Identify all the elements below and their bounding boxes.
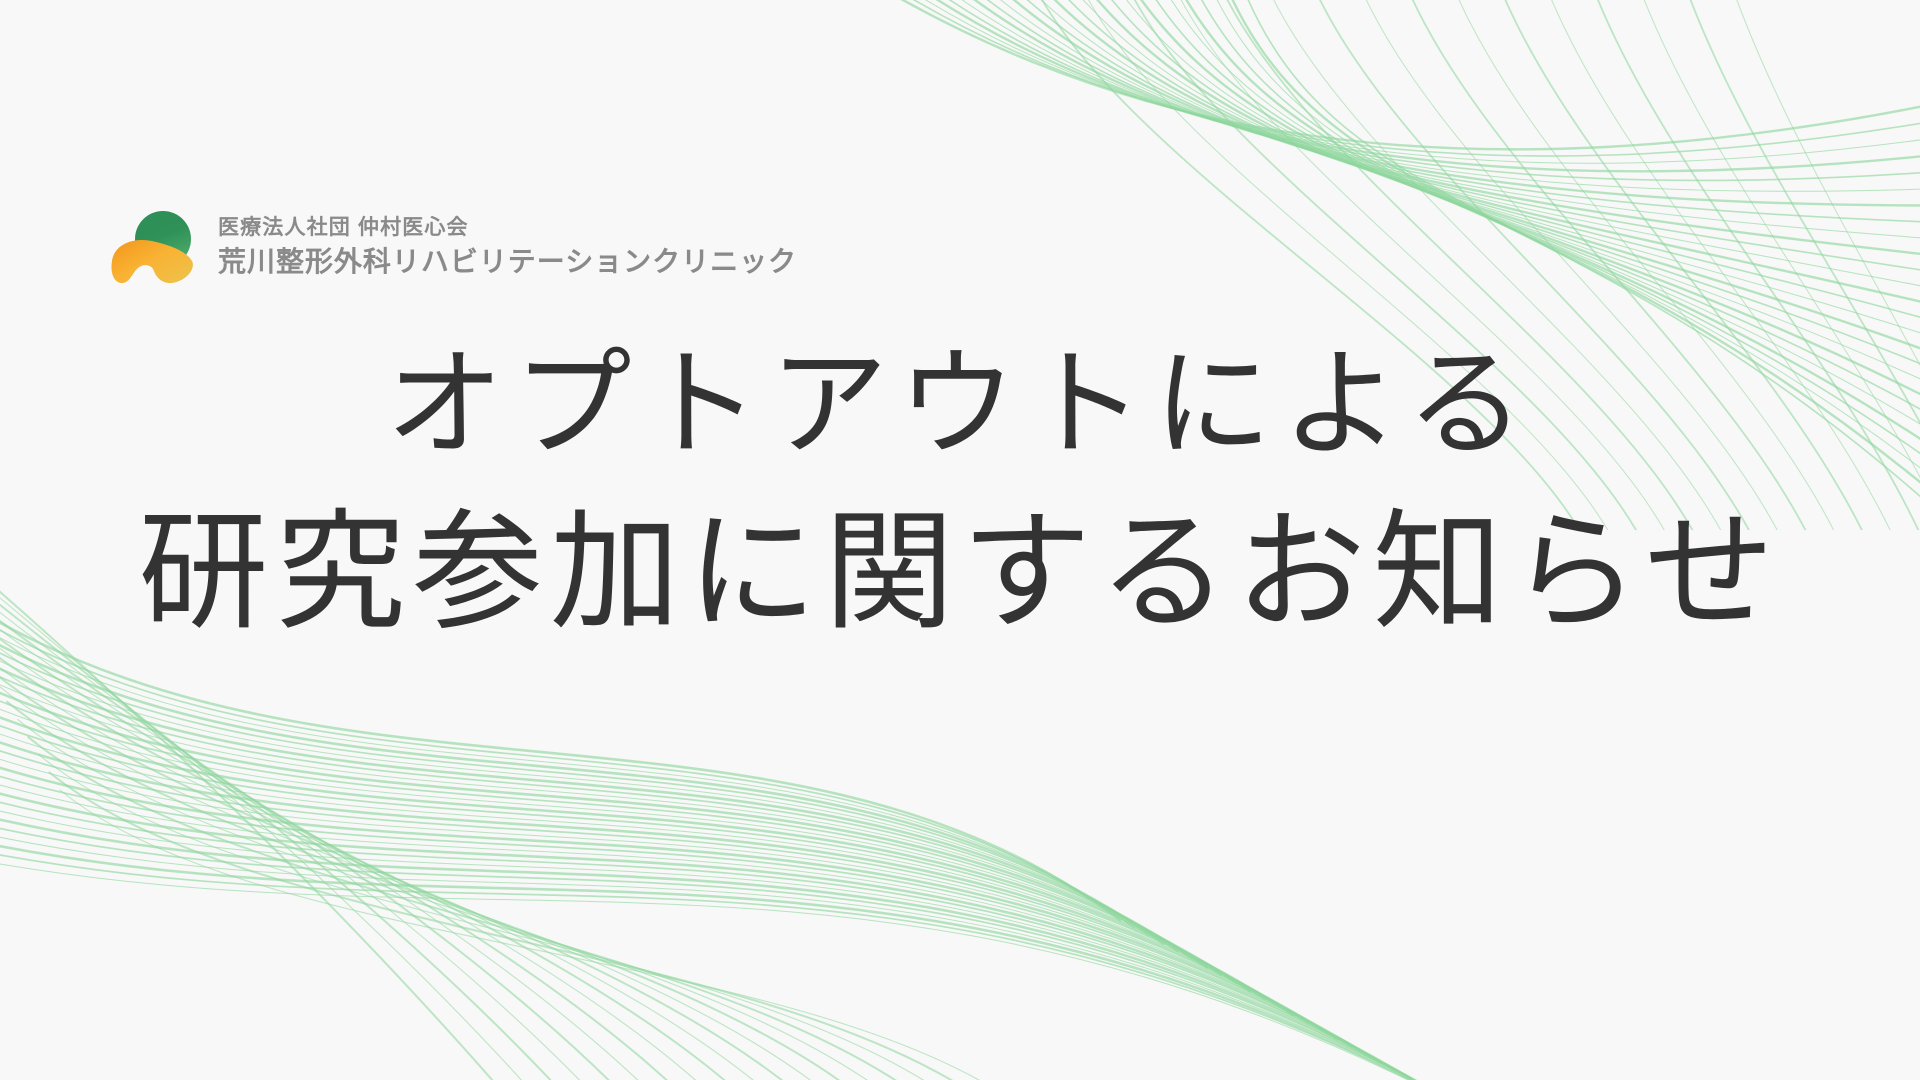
clinic-logo-text-block: 医療法人社団 仲村医心会 荒川整形外科リハビリテーションクリニック: [218, 216, 797, 278]
title-line-2: 研究参加に関するお知らせ: [0, 495, 1920, 654]
logo-clinic-name: 荒川整形外科リハビリテーションクリニック: [218, 245, 797, 278]
page-title: オプトアウトによる 研究参加に関するお知らせ: [0, 330, 1920, 654]
title-line-1: オプトアウトによる: [0, 330, 1920, 481]
logo-corporate-name: 医療法人社団 仲村医心会: [218, 216, 797, 241]
clinic-logo-lockup: 医療法人社団 仲村医心会 荒川整形外科リハビリテーションクリニック: [108, 205, 797, 289]
clinic-logo-mark-icon: [108, 205, 200, 289]
slide-canvas: 医療法人社団 仲村医心会 荒川整形外科リハビリテーションクリニック オプトアウト…: [0, 0, 1920, 1080]
